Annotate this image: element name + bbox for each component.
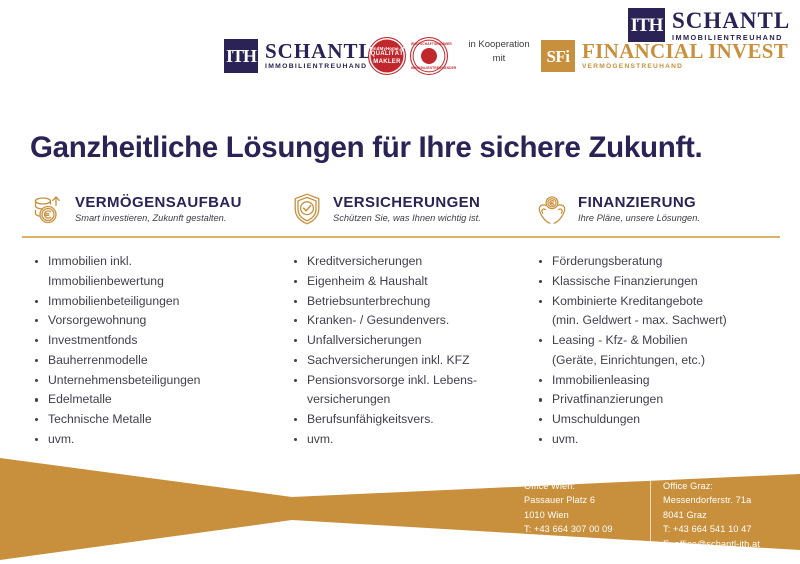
list-item: Klassische Finanzierungen — [538, 272, 788, 292]
office-phone[interactable]: T: +43 664 541 10 47 — [663, 522, 760, 536]
schantl-tagline: IMMOBILIENTREUHAND — [265, 64, 374, 71]
list-item-text: Immobilienleasing — [552, 373, 650, 387]
column-finanzierung: FINANZIERUNG Ihre Pläne, unsere Lösungen… — [533, 188, 770, 230]
list-item-text: Bauherrenmodelle — [48, 353, 148, 367]
list-item-text: Unternehmensbeteiligungen — [48, 373, 200, 387]
list-item: Umschuldungen — [538, 410, 788, 430]
list-item: Kreditversicherungen — [293, 252, 538, 272]
column-subtitle: Schützen Sie, was Ihnen wichtig ist. — [333, 213, 481, 223]
column-vermoegensaufbau: VERMÖGENSAUFBAU Smart investieren, Zukun… — [30, 188, 288, 230]
list-item-text: Förderungsberatung — [552, 254, 662, 268]
ith-monogram-square: ITH — [628, 8, 665, 42]
page-title: Ganzheitliche Lösungen für Ihre sichere … — [30, 131, 702, 165]
list-item: Eigenheim & Haushalt — [293, 272, 538, 292]
financial-invest-tagline: VERMÖGENSTREUHAND — [582, 64, 788, 71]
list-item-text: Immobilien inkl. — [48, 254, 132, 268]
office-phone[interactable]: T: +43 664 307 00 09 — [524, 522, 650, 536]
list-item-text: Immobilienbeteiligungen — [48, 294, 179, 308]
list-item: Kombinierte Kreditangebote(min. Geldwert… — [538, 292, 788, 332]
list-item: Leasing - Kfz- & Mobilien(Geräte, Einric… — [538, 331, 788, 371]
office-street: Messendorferstr. 71a — [663, 493, 760, 507]
eagle-emblem-icon — [421, 48, 437, 64]
list-item: Investmentfonds — [34, 331, 286, 351]
list-item-text: Technische Metalle — [48, 412, 152, 426]
list-item-text: Kombinierte Kreditangebote — [552, 294, 703, 308]
list-item: Immobilien inkl.Immobilienbewertung — [34, 252, 286, 292]
schantl-wordmark: SCHANTL — [672, 9, 790, 32]
list-item-text: Investmentfonds — [48, 333, 137, 347]
list-item-text: Vorsorgewohnung — [48, 313, 146, 327]
list-item: Pensionsvorsorge inkl. Lebens-versicheru… — [293, 371, 538, 411]
office-wien-block: Office Wien: Passauer Platz 6 1010 Wien … — [524, 479, 650, 551]
list-item-continuation: (min. Geldwert - max. Sachwert) — [552, 311, 788, 331]
logo-schantl-ith-mid: ITH SCHANTL IMMOBILIENTREUHAND — [224, 39, 374, 73]
list-item-text: Edelmetalle — [48, 392, 112, 406]
column-subtitle: Smart investieren, Zukunft gestalten. — [75, 213, 242, 223]
list-item-text: Pensionsvorsorge inkl. Lebens- — [307, 373, 477, 387]
wirtschaftskammer-seal-icon: WIRTSCHAFTSKAMMER IMMOBILIENTREUHÄNDER — [410, 37, 448, 75]
list-item: Sachversicherungen inkl. KFZ — [293, 351, 538, 371]
list-item: Berufsunfähigkeitsvers. — [293, 410, 538, 430]
service-columns-header-row: VERMÖGENSAUFBAU Smart investieren, Zukun… — [30, 188, 770, 230]
ith-monogram-square: ITH — [224, 39, 258, 73]
list-item: Unfallversicherungen — [293, 331, 538, 351]
list-item-text: Kreditversicherungen — [307, 254, 422, 268]
list-item: Vorsorgewohnung — [34, 311, 286, 331]
footer-offices: Office Wien: Passauer Platz 6 1010 Wien … — [524, 479, 760, 551]
seal-line-3: MAKLER — [373, 59, 400, 67]
office-email[interactable]: E: office@sfi-invest.com — [524, 537, 650, 551]
seal-ring-top-text: WIRTSCHAFTSKAMMER — [411, 42, 447, 46]
list-item: Bauherrenmodelle — [34, 351, 286, 371]
gold-divider-rule — [22, 236, 780, 238]
office-city: 8041 Graz — [663, 508, 760, 522]
list-item-text: Unfallversicherungen — [307, 333, 422, 347]
header-logo-bar: ITH SCHANTL IMMOBILIENTREUHAND ITH SCHAN… — [0, 0, 800, 100]
list-item-text: Sachversicherungen inkl. KFZ — [307, 353, 470, 367]
list-item-continuation: versicherungen — [307, 390, 538, 410]
seal-line-2: QUALITÄT — [371, 51, 404, 59]
list-item: Kranken- / Gesundenvers. — [293, 311, 538, 331]
list-item-continuation: Immobilienbewertung — [48, 272, 286, 292]
list-item-text: Leasing - Kfz- & Mobilien — [552, 333, 687, 347]
hands-holding-coin-icon — [533, 191, 571, 227]
list-item-text: Eigenheim & Haushalt — [307, 274, 428, 288]
list-finanzierung: FörderungsberatungKlassische Finanzierun… — [538, 252, 788, 450]
financial-invest-wordmark: FINANCIAL INVEST — [582, 41, 788, 62]
list-item-continuation: (Geräte, Einrichtungen, etc.) — [552, 351, 788, 371]
list-item: Betriebsunterbrechung — [293, 292, 538, 312]
list-item: Privatfinanzierungen — [538, 390, 788, 410]
logo-sfi-financial-invest: SFi FINANCIAL INVEST VERMÖGENSTREUHAND — [541, 40, 788, 72]
office-city: 1010 Wien — [524, 508, 650, 522]
list-item-text: Privatfinanzierungen — [552, 392, 663, 406]
column-title: VERMÖGENSAUFBAU — [75, 195, 242, 212]
sfi-monogram-text: SFi — [546, 48, 569, 65]
office-name: Office Wien: — [524, 479, 650, 493]
list-vermoegensaufbau: Immobilien inkl.ImmobilienbewertungImmob… — [34, 252, 286, 450]
list-item: Technische Metalle — [34, 410, 286, 430]
logo-schantl-ith-top: ITH SCHANTL IMMOBILIENTREUHAND — [628, 8, 790, 42]
list-item: Immobilienbeteiligungen — [34, 292, 286, 312]
list-item: Immobilienleasing — [538, 371, 788, 391]
office-street: Passauer Platz 6 — [524, 493, 650, 507]
column-title: FINANZIERUNG — [578, 195, 700, 212]
ith-monogram-text: ITH — [226, 47, 256, 65]
shield-check-icon — [288, 191, 326, 227]
seal-ring-bottom-text: IMMOBILIENTREUHÄNDER — [411, 66, 447, 70]
list-item-text: Klassische Finanzierungen — [552, 274, 698, 288]
column-subtitle: Ihre Pläne, unsere Lösungen. — [578, 213, 700, 223]
list-item-text: Berufsunfähigkeitsvers. — [307, 412, 434, 426]
list-item-text: Kranken- / Gesundenvers. — [307, 313, 449, 327]
sfi-monogram-square: SFi — [541, 40, 575, 72]
office-name: Office Graz: — [663, 479, 760, 493]
column-title: VERSICHERUNGEN — [333, 195, 481, 212]
list-item: Förderungsberatung — [538, 252, 788, 272]
cooperation-label: in Kooperation mit — [466, 38, 532, 66]
column-versicherungen: VERSICHERUNGEN Schützen Sie, was Ihnen w… — [288, 188, 533, 230]
office-email[interactable]: E: office@schantl-ith.at — [663, 537, 760, 551]
list-item-text: Umschuldungen — [552, 412, 640, 426]
list-item: Edelmetalle — [34, 390, 286, 410]
list-item-text: Betriebsunterbrechung — [307, 294, 430, 308]
schantl-wordmark: SCHANTL — [265, 41, 374, 62]
qualitaet-makler-seal-icon: FindMyHome.at QUALITÄT MAKLER — [368, 37, 406, 75]
office-graz-block: Office Graz: Messendorferstr. 71a 8041 G… — [651, 479, 760, 551]
ith-monogram-text: ITH — [631, 16, 663, 35]
list-versicherungen: KreditversicherungenEigenheim & Haushalt… — [293, 252, 538, 450]
list-item: Unternehmensbeteiligungen — [34, 371, 286, 391]
coins-euro-growth-icon — [30, 191, 68, 227]
